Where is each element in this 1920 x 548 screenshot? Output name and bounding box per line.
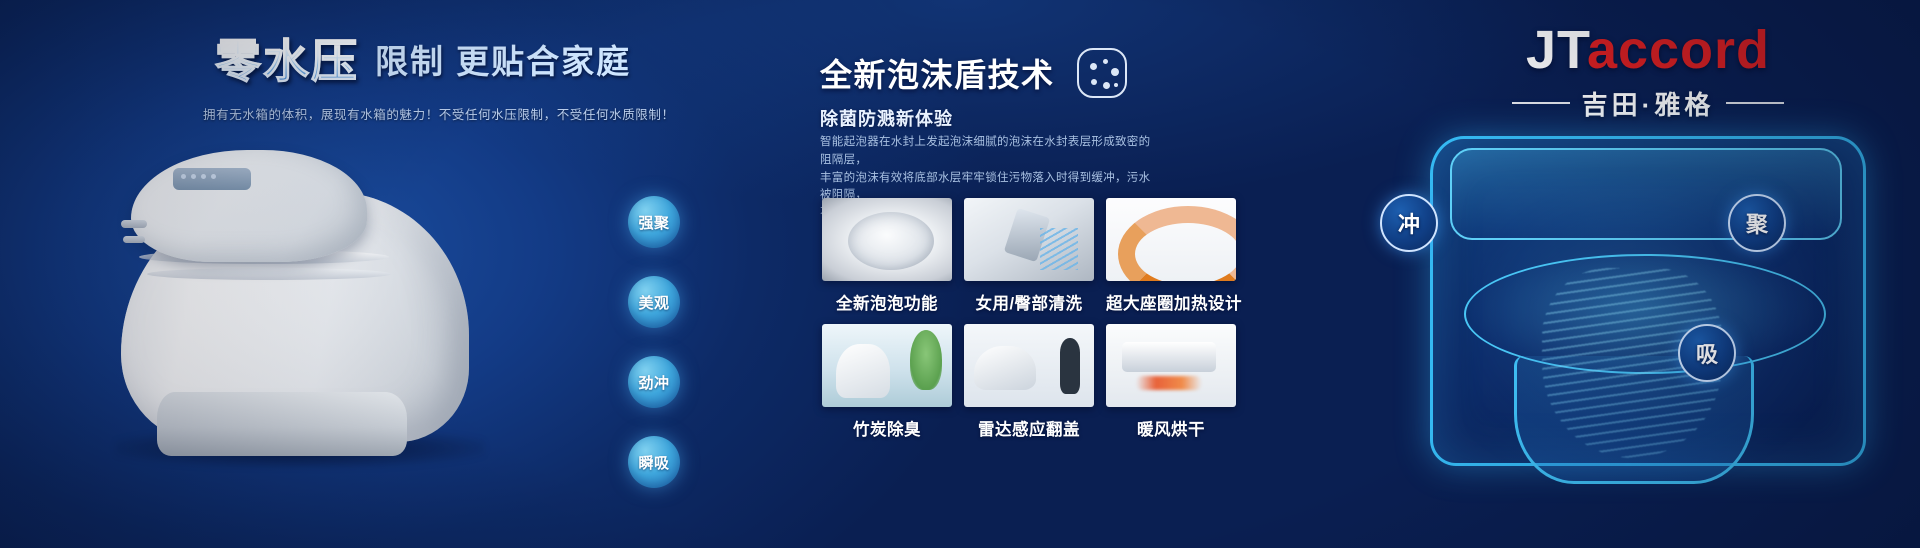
feature-thumbnail-row-1: 全新泡泡功能 女用/臀部清洗 超大座圈加热设计 xyxy=(822,198,1236,314)
brand-divider-left xyxy=(1512,102,1570,104)
toilet-side-button xyxy=(121,220,147,228)
brand-divider-right xyxy=(1726,102,1784,104)
feature-caption-heated-seat: 超大座圈加热设计 xyxy=(1106,290,1236,314)
promo-banner: 零水压 限制 更贴合家庭 拥有无水箱的体积，展现有水箱的魅力！不受任何水压限制，… xyxy=(0,0,1920,548)
feature-caption-radar-lid: 雷达感应翻盖 xyxy=(964,416,1094,440)
feature-caption-washing: 女用/臀部清洗 xyxy=(964,290,1094,314)
toilet-lid-shape xyxy=(131,150,367,262)
feature-card-washing[interactable]: 女用/臀部清洗 xyxy=(964,198,1094,314)
headline-sub-text: 限制 更贴合家庭 xyxy=(375,43,631,84)
right-panel: JTaccord 吉田·雅格 冲 聚 吸 xyxy=(1380,0,1920,548)
feature-thumbnail-row-2: 竹炭除臭 雷达感应翻盖 暖风烘干 xyxy=(822,324,1236,440)
brand-wordmark-jt: JT xyxy=(1526,20,1587,80)
toilet-seat-line-secondary xyxy=(147,268,391,280)
xray-toilet-flush-diagram: 冲 聚 吸 xyxy=(1410,118,1890,528)
diagram-badge-ju: 聚 xyxy=(1728,194,1786,252)
toilet-base-shape xyxy=(157,392,407,456)
feature-card-deodorize[interactable]: 竹炭除臭 xyxy=(822,324,952,440)
headline-description: 拥有无水箱的体积，展现有水箱的魅力！不受任何水压限制，不受任何水质限制！ xyxy=(203,104,675,123)
feature-card-foam[interactable]: 全新泡泡功能 xyxy=(822,198,952,314)
feature-thumbnail-grid: 全新泡泡功能 女用/臀部清洗 超大座圈加热设计 竹炭除臭 雷 xyxy=(822,198,1236,450)
feature-badge-shunxi: 瞬吸 xyxy=(628,436,680,488)
center-title: 全新泡沫盾技术 xyxy=(820,50,1055,96)
headline: 零水压 限制 更贴合家庭 xyxy=(215,38,631,84)
body-line-1: 智能起泡器在水封上发起泡沫细腻的泡沫在水封表层形成致密的阻隔层， xyxy=(820,134,1160,170)
feature-badge-meiguan: 美观 xyxy=(628,276,680,328)
feature-caption-foam: 全新泡泡功能 xyxy=(822,290,952,314)
feature-card-radar-lid[interactable]: 雷达感应翻盖 xyxy=(964,324,1094,440)
brand-chinese-name: 吉田·雅格 xyxy=(1582,85,1715,122)
bamboo-charcoal-deodorize-photo xyxy=(822,324,952,407)
center-title-row: 全新泡沫盾技术 xyxy=(820,48,1127,98)
left-panel: 零水压 限制 更贴合家庭 拥有无水箱的体积，展现有水箱的魅力！不受任何水压限制，… xyxy=(0,0,700,548)
feature-badge-list: 强聚 美观 劲冲 瞬吸 xyxy=(628,196,680,516)
feature-badge-jingchong: 劲冲 xyxy=(628,356,680,408)
feature-card-dryer[interactable]: 暖风烘干 xyxy=(1106,324,1236,440)
feature-card-heated-seat[interactable]: 超大座圈加热设计 xyxy=(1106,198,1236,314)
toilet-control-panel xyxy=(173,168,251,190)
headline-main-text: 零水压 xyxy=(215,38,359,84)
diagram-badge-chong: 冲 xyxy=(1380,194,1438,252)
toilet-bowl-foam-photo xyxy=(822,198,952,281)
radar-sensor-lid-photo xyxy=(964,324,1094,407)
bubble-shield-icon xyxy=(1077,48,1127,98)
toilet-side-button-secondary xyxy=(123,236,145,243)
diagram-badge-xi: 吸 xyxy=(1678,324,1736,382)
heated-seat-ring-photo xyxy=(1106,198,1236,281)
brand-wordmark: JTaccord xyxy=(1458,22,1838,79)
brand-logo: JTaccord 吉田·雅格 xyxy=(1458,22,1838,122)
brand-wordmark-accord: accord xyxy=(1587,20,1770,80)
feature-caption-dryer: 暖风烘干 xyxy=(1106,416,1236,440)
smart-toilet-product-image xyxy=(95,132,495,462)
feature-badge-qiangju: 强聚 xyxy=(628,196,680,248)
center-subtitle: 除菌防溅新体验 xyxy=(820,105,953,131)
center-panel: 全新泡沫盾技术 除菌防溅新体验 智能起泡器在水封上发起泡沫细腻的泡沫在水封表层形… xyxy=(812,0,1372,548)
washing-nozzle-photo xyxy=(964,198,1094,281)
warm-air-dryer-photo xyxy=(1106,324,1236,407)
brand-divider-row: 吉田·雅格 xyxy=(1458,85,1838,122)
control-panel-indicator-lights xyxy=(181,174,216,179)
feature-caption-deodorize: 竹炭除臭 xyxy=(822,416,952,440)
